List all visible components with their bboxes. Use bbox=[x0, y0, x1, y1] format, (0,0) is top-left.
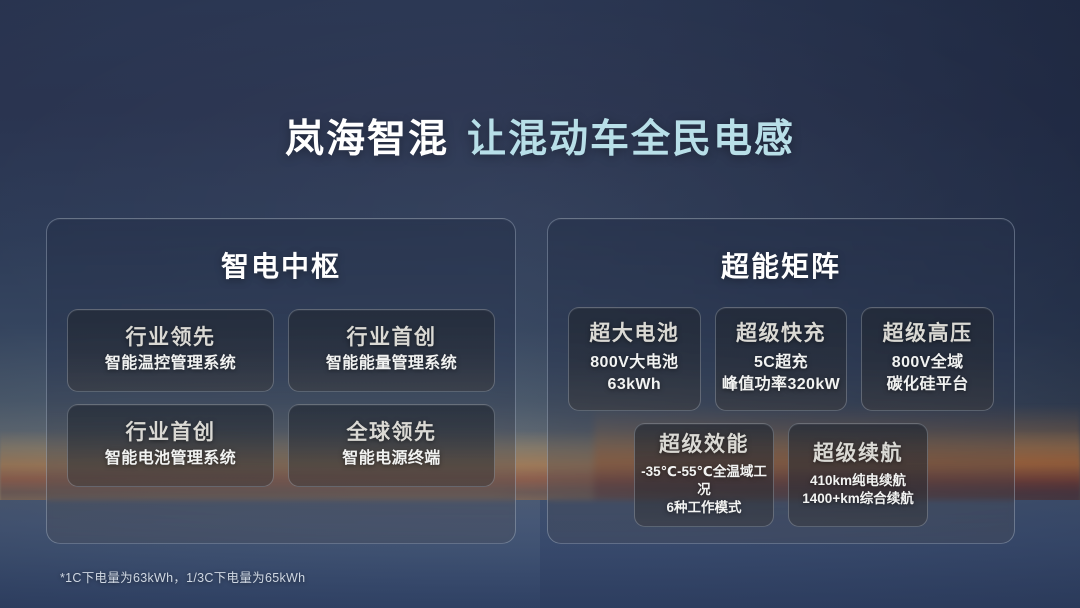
card-subtitle-line-1: 410km纯电续航 bbox=[810, 472, 906, 490]
card-title: 超级续航 bbox=[813, 442, 903, 466]
card-subtitle-line-2: 6种工作模式 bbox=[666, 499, 741, 517]
card-title: 超级高压 bbox=[883, 322, 973, 346]
card-industry-first-battery[interactable]: 行业首创 智能电池管理系统 bbox=[67, 404, 274, 487]
panel-heading-super-power-matrix: 超能矩阵 bbox=[548, 245, 1014, 285]
card-row-super-power-matrix-top: 超大电池 800V大电池 63kWh 超级快充 5C超充 峰值功率320kW 超… bbox=[568, 307, 994, 411]
card-row-super-power-matrix-bottom: 超级效能 -35℃-55℃全温域工况 6种工作模式 超级续航 410km纯电续航… bbox=[548, 423, 1014, 527]
card-super-range[interactable]: 超级续航 410km纯电续航 1400+km综合续航 bbox=[788, 423, 928, 527]
card-subtitle: 智能能量管理系统 bbox=[326, 353, 457, 375]
card-title: 行业首创 bbox=[347, 326, 437, 350]
card-title: 超大电池 bbox=[589, 322, 679, 346]
card-grid-smart-electric-hub: 行业领先 智能温控管理系统 行业首创 智能能量管理系统 行业首创 智能电池管理系… bbox=[67, 309, 495, 487]
slide-title-accent: 让混动车全民电感 bbox=[467, 118, 795, 161]
slide-title-main: 岚海智混 bbox=[285, 118, 449, 161]
card-title: 行业领先 bbox=[126, 326, 216, 350]
card-subtitle-line-1: 800V大电池 bbox=[590, 352, 678, 374]
presentation-slide: 岚海智混让混动车全民电感 智电中枢 行业领先 智能温控管理系统 行业首创 智能能… bbox=[0, 0, 1080, 608]
card-super-high-voltage[interactable]: 超级高压 800V全域 碳化硅平台 bbox=[861, 307, 994, 411]
card-industry-leading-thermal[interactable]: 行业领先 智能温控管理系统 bbox=[67, 309, 274, 392]
slide-title: 岚海智混让混动车全民电感 bbox=[0, 108, 1080, 164]
card-title: 行业首创 bbox=[126, 421, 216, 445]
card-super-large-battery[interactable]: 超大电池 800V大电池 63kWh bbox=[568, 307, 701, 411]
card-global-leading-power-terminal[interactable]: 全球领先 智能电源终端 bbox=[288, 404, 495, 487]
card-subtitle: 智能温控管理系统 bbox=[105, 353, 236, 375]
card-title: 超级效能 bbox=[659, 433, 749, 457]
card-subtitle-line-1: 800V全域 bbox=[892, 352, 964, 374]
card-super-fast-charging[interactable]: 超级快充 5C超充 峰值功率320kW bbox=[715, 307, 848, 411]
card-subtitle: 智能电源终端 bbox=[342, 448, 440, 470]
card-subtitle-line-2: 1400+km综合续航 bbox=[802, 490, 913, 508]
card-subtitle-line-2: 63kWh bbox=[608, 374, 662, 396]
card-title: 超级快充 bbox=[736, 322, 826, 346]
card-subtitle-line-2: 峰值功率320kW bbox=[722, 374, 840, 396]
card-super-efficiency[interactable]: 超级效能 -35℃-55℃全温域工况 6种工作模式 bbox=[634, 423, 774, 527]
card-subtitle-line-2: 碳化硅平台 bbox=[887, 374, 969, 396]
slide-footnote: *1C下电量为63kWh，1/3C下电量为65kWh bbox=[60, 567, 305, 586]
panel-heading-smart-electric-hub: 智电中枢 bbox=[47, 245, 515, 285]
card-subtitle-line-1: 5C超充 bbox=[754, 352, 808, 374]
panel-super-power-matrix: 超能矩阵 超大电池 800V大电池 63kWh 超级快充 5C超充 峰值功率32… bbox=[547, 218, 1015, 544]
panel-smart-electric-hub: 智电中枢 行业领先 智能温控管理系统 行业首创 智能能量管理系统 行业首创 智能… bbox=[46, 218, 516, 544]
card-industry-first-energy[interactable]: 行业首创 智能能量管理系统 bbox=[288, 309, 495, 392]
card-subtitle: 智能电池管理系统 bbox=[105, 448, 236, 470]
card-title: 全球领先 bbox=[347, 421, 437, 445]
card-subtitle-line-1: -35℃-55℃全温域工况 bbox=[635, 463, 773, 499]
